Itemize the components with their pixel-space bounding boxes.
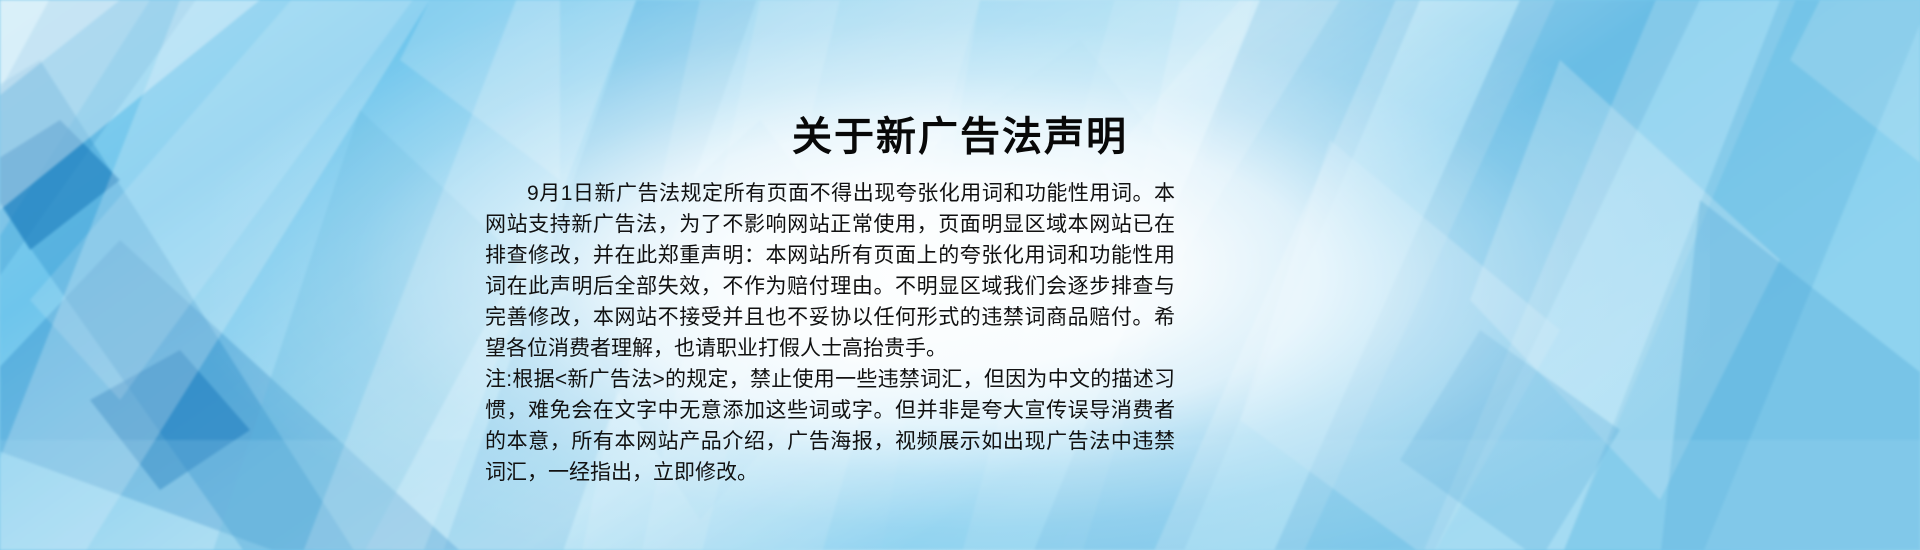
- statement-paragraph-main: 9月1日新广告法规定所有页面不得出现夸张化用词和功能性用词。本网站支持新广告法，…: [485, 178, 1175, 364]
- statement-paragraph-note: 注:根据<新广告法>的规定，禁止使用一些违禁词汇，但因为中文的描述习惯，难免会在…: [485, 364, 1175, 488]
- statement-content: 关于新广告法声明 9月1日新广告法规定所有页面不得出现夸张化用词和功能性用词。本…: [0, 0, 1920, 550]
- page-title: 关于新广告法声明: [0, 113, 1920, 161]
- advertising-law-statement-banner: 关于新广告法声明 9月1日新广告法规定所有页面不得出现夸张化用词和功能性用词。本…: [0, 0, 1920, 550]
- statement-body: 9月1日新广告法规定所有页面不得出现夸张化用词和功能性用词。本网站支持新广告法，…: [485, 178, 1175, 488]
